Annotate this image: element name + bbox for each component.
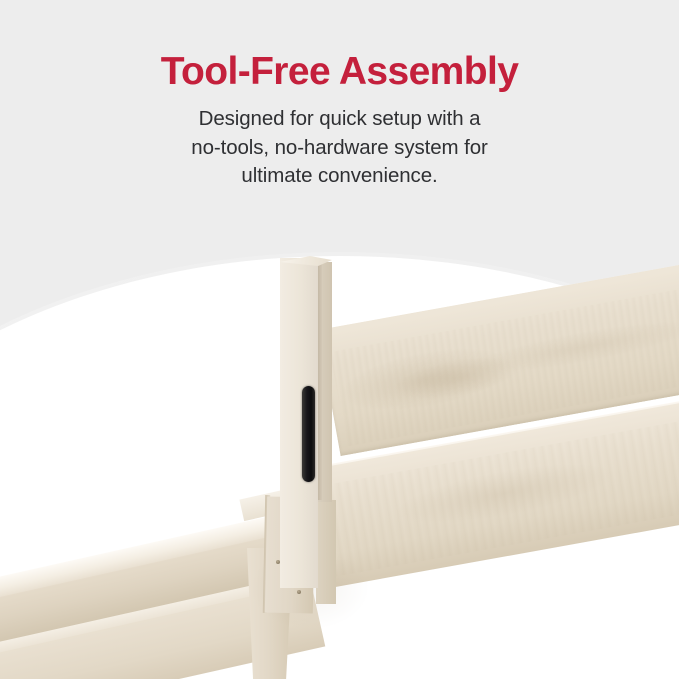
post-return-flange xyxy=(316,500,336,604)
subtitle: Designed for quick setup with a no-tools… xyxy=(150,94,530,191)
page-title: Tool-Free Assembly xyxy=(0,0,679,94)
subtitle-line-1: Designed for quick setup with a xyxy=(150,105,530,134)
subtitle-line-3: ultimate convenience. xyxy=(150,162,530,191)
subtitle-line-2: no-tools, no-hardware system for xyxy=(150,134,530,163)
infographic-canvas: Tool-Free Assembly Designed for quick se… xyxy=(0,0,679,679)
locking-pin xyxy=(302,386,315,482)
dowel-hole xyxy=(297,590,301,594)
text-block: Tool-Free Assembly Designed for quick se… xyxy=(0,0,679,191)
